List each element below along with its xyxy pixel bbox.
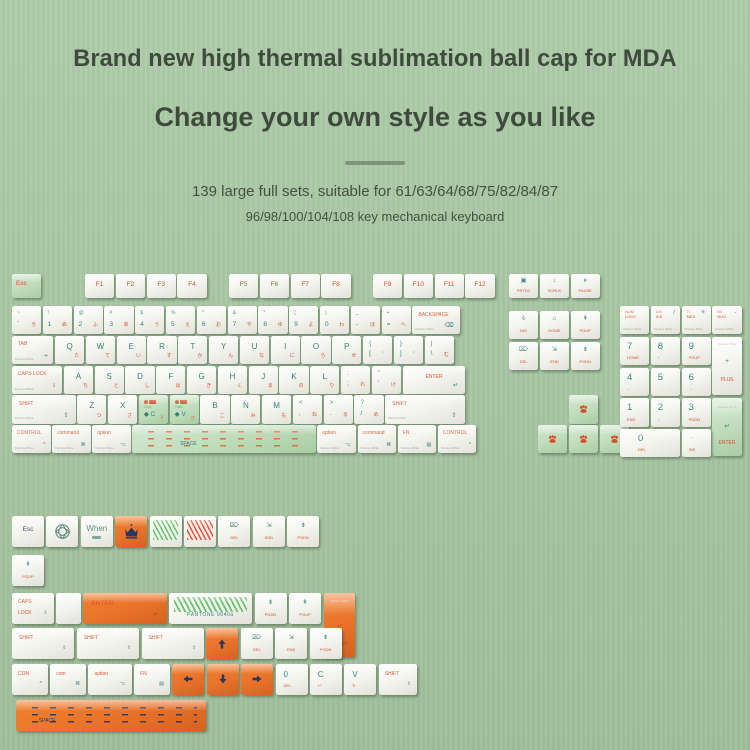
keycap-legend: E (117, 343, 146, 351)
keycap-legend: お (216, 323, 221, 328)
keycap-legend: へ (401, 323, 406, 328)
keycap[interactable]: Mも (262, 395, 291, 423)
keycap[interactable]: #3あ (104, 306, 133, 334)
keycap[interactable]: |\む (425, 336, 454, 364)
keycap-legend: ⌘ (386, 443, 391, 448)
keycap[interactable]: ENTER↵ (83, 593, 166, 624)
keycap-legend: ~ (17, 311, 20, 316)
keycap-legend: SHIFT (149, 636, 163, 641)
keycap-legend: PGDN (310, 648, 342, 652)
keycap[interactable]: Bこ (200, 395, 229, 423)
keycap-legend: & (233, 311, 236, 316)
keycap[interactable]: Hく (218, 366, 247, 394)
keycap[interactable]: Oら (301, 336, 330, 364)
keycap-legend: ゆ (278, 323, 283, 328)
keycap[interactable]: Gき (187, 366, 216, 394)
keycap[interactable]: TIMESPantone White✳ (682, 306, 711, 334)
keycap-legend: F3 (147, 282, 176, 289)
keycap[interactable]: @2ふ (74, 306, 103, 334)
keycap[interactable]: F6 (260, 274, 289, 298)
pantone-sublabel: Pantone White (15, 418, 33, 421)
keycap-legend: ⌦ (218, 523, 250, 530)
keycap-legend: も (281, 414, 286, 419)
keycap[interactable]: Fは (156, 366, 185, 394)
keycap[interactable]: com⌘ (50, 664, 86, 695)
keycap[interactable]: NUMLOCKPantone White (620, 306, 649, 334)
keycap[interactable]: ⌂HOME (540, 311, 569, 339)
keycap[interactable]: %5え (166, 306, 195, 334)
keycap[interactable]: Esc (12, 274, 41, 298)
keycap[interactable] (56, 593, 81, 624)
keycap-legend: ^ (469, 443, 471, 448)
keycap-legend: 5 (171, 322, 175, 329)
keycap-legend: た (74, 354, 79, 359)
keycap[interactable]: ▣PRTSC (509, 274, 538, 298)
keycap-legend: K (279, 373, 308, 381)
keycap-legend: あ (124, 323, 129, 328)
pantone-sublabel: Pantone White (654, 329, 672, 332)
keycap-legend: _ (356, 311, 359, 316)
keycap-legend: IDE (656, 315, 663, 319)
keycap[interactable]: SHIFT⇧ (142, 628, 204, 659)
keycap[interactable] (150, 516, 182, 547)
pantone-sublabel: Pantone White (388, 418, 406, 421)
keycap[interactable]: Nみ (231, 395, 260, 423)
keycap-legend: F2 (116, 282, 145, 289)
pantone-sublabel: Pantone White (95, 448, 113, 451)
keycap-legend: ⇞ (12, 562, 44, 569)
keycap[interactable]: F4 (177, 274, 206, 298)
keycap[interactable]: ⇟PGDN (287, 516, 319, 547)
keycap[interactable]: SHIFTPantone White⇧ (12, 395, 76, 423)
keycap[interactable]: 3PGDN (682, 398, 711, 426)
keycap-legend: 1 (627, 403, 632, 413)
keycap-legend: 7 (233, 322, 237, 329)
keycap-legend: } (400, 341, 402, 348)
keycap[interactable]: ⇟PGDN (310, 628, 342, 659)
keycap-legend: の (299, 384, 304, 389)
keycap[interactable]: }]゜ (394, 336, 423, 364)
keycap[interactable]: MINUSPantone White- (712, 306, 741, 334)
pantone-sublabel: Pantone White (712, 344, 741, 347)
keycap-legend: 2 (658, 403, 663, 413)
keycap[interactable]: Pせ (332, 336, 361, 364)
keycap-legend: PRTSC (509, 289, 538, 293)
keycap-legend: R (147, 343, 176, 351)
keycap[interactable]: 5 (651, 368, 680, 396)
keycap[interactable]: Dし (125, 366, 154, 394)
keycap[interactable]: "'け (372, 366, 401, 394)
keycap-legend: PGUP (12, 575, 44, 579)
pantone-sublabel: Pantone White (55, 448, 73, 451)
keycap[interactable]: CAPS LOCKPantone White⇩ (12, 366, 62, 394)
keycap-legend: ENTER (403, 375, 466, 380)
keycap-legend: I (271, 343, 300, 351)
keycap[interactable]: (9よ (289, 306, 318, 334)
compatibility-line-2: 96/98/100/104/108 key mechanical keyboar… (0, 200, 750, 224)
keycap-legend: HOME (627, 356, 639, 360)
keycap-legend: PANTONE 9040u (169, 613, 252, 618)
keycap[interactable]: $4う (135, 306, 164, 334)
keycap-legend: V (352, 671, 357, 679)
pantone-sublabel: Pantone White (15, 389, 33, 392)
pantone-sublabel: Pantone White (401, 448, 419, 451)
keycap[interactable] (46, 516, 78, 547)
keycap[interactable]: Paste◆ Vひ (170, 395, 199, 423)
keycap[interactable]: Sと (95, 366, 124, 394)
keycap[interactable]: &7や (228, 306, 257, 334)
keycap-legend: む (444, 353, 449, 358)
keycap-legend: ⌘ (75, 682, 80, 687)
keycap-legend: PGDN (255, 613, 287, 617)
keycap-legend: - (734, 310, 736, 317)
keycap[interactable]: PANTONE 9040u (169, 593, 252, 624)
keycap-legend: る (343, 413, 348, 418)
keycap-legend: ? (360, 400, 364, 407)
keycap-legend: LOCK (625, 315, 636, 319)
keycap-legend: ⇟ (571, 347, 600, 354)
keycap-legend: DEL (241, 648, 273, 652)
keycap[interactable]: )0わ (320, 306, 349, 334)
arrow-left-icon (172, 664, 204, 695)
keycap-legend: D (125, 373, 154, 381)
keycap-legend: 4 (627, 373, 632, 383)
keycap[interactable]: F5 (229, 274, 258, 298)
keycap[interactable]: <,ね (293, 395, 322, 423)
keycap-legend: Q (55, 343, 84, 351)
keycap[interactable]: FN▤ (134, 664, 170, 695)
paw-icon (538, 425, 567, 453)
keycap[interactable]: CAPSLOCK⇩ (12, 593, 54, 624)
keycap-legend: ぬ (62, 323, 67, 328)
keycap-legend: り (329, 384, 334, 389)
keycap-legend: め (374, 413, 379, 418)
keycap-legend: え (185, 323, 190, 328)
keycap-legend: C (318, 671, 324, 679)
keycap[interactable] (569, 395, 598, 423)
keycap-legend: DEL (284, 684, 292, 688)
keycap-legend: CON (18, 672, 29, 677)
pantone-sublabel: Pantone White (415, 329, 433, 332)
keycap[interactable] (172, 664, 204, 695)
keycap-legend: F4 (177, 282, 206, 289)
keycap[interactable]: F9 (373, 274, 402, 298)
keycap-legend: Esc (16, 281, 27, 288)
keycap-legend: に (290, 354, 295, 359)
keycap-legend: わ (339, 323, 344, 328)
keycap[interactable]: C↵ (310, 664, 342, 695)
keycap[interactable]: Rす (147, 336, 176, 364)
keycap-legend: BACKSPACE (418, 313, 448, 318)
header: Brand new high thermal sublimation ball … (0, 0, 750, 224)
keycap[interactable]: :;れ (341, 366, 370, 394)
keycap[interactable]: Pantone White+PLUS (712, 337, 741, 395)
keycap[interactable] (206, 628, 238, 659)
keycap-legend: CONTROL (17, 431, 41, 436)
keycap[interactable]: ⌦DEL (241, 628, 273, 659)
keycap-legend: SHIFT (392, 402, 406, 407)
keycap-legend: ↵ (453, 383, 458, 390)
keycap[interactable]: ^6お (197, 306, 226, 334)
keycap[interactable]: ⇞PGUP (571, 311, 600, 339)
keycap-legend: れ (360, 383, 365, 388)
keycap[interactable]: Jま (249, 366, 278, 394)
keycap-legend: ✳ (700, 310, 705, 317)
keycap-legend: W (86, 343, 115, 351)
keycap-legend: T (178, 343, 207, 351)
keycap[interactable] (241, 664, 273, 695)
keycap-legend: ◆ V (175, 412, 186, 419)
keycap[interactable]: ⇲END (253, 516, 285, 547)
keycap[interactable]: SHIFTPantone White⇧ (385, 395, 464, 423)
keycap-legend: こ (220, 414, 225, 419)
keycap-legend: ENTER (91, 601, 113, 608)
keycap[interactable]: F10 (404, 274, 433, 298)
keycap[interactable]: Uな (240, 336, 269, 364)
keycap[interactable]: When (81, 516, 113, 547)
pantone-sublabel: Pantone White (15, 448, 33, 451)
keycap[interactable]: V↻ (344, 664, 376, 695)
keycap-legend: み (250, 414, 255, 419)
keycap[interactable]: optionPantone White⌥ (92, 425, 131, 453)
keycap-legend: " (378, 371, 380, 378)
keycap-legend: ⇧ (62, 646, 66, 651)
keycap[interactable]: 4← (620, 368, 649, 396)
keycap-legend: ら (321, 354, 326, 359)
keycap-legend: ^ (39, 682, 41, 687)
keycap[interactable]: !1ぬ (43, 306, 72, 334)
keycap[interactable]: SPACE (16, 700, 206, 731)
keycap[interactable]: optionPantone White⌥ (317, 425, 356, 453)
keycap[interactable]: Pantone White↵ENTER (712, 398, 741, 456)
keycap[interactable]: BACKSPACEPantone White⌫ (412, 306, 459, 334)
keycap-legend: FN (140, 672, 147, 677)
keycap-legend: 5 (658, 373, 663, 383)
keycap[interactable]: F1 (85, 274, 114, 298)
keycap[interactable]: ⇟PGDN (571, 342, 600, 370)
arrow-right-icon (241, 664, 273, 695)
keycap[interactable]: option⌥ (88, 664, 131, 695)
keycap[interactable]: FNPantone White▤ (398, 425, 437, 453)
page-subtitle: Change your own style as you like (0, 71, 750, 131)
keycap-legend: て (105, 354, 110, 359)
keycap[interactable]: F12 (465, 274, 494, 298)
keycap-legend: X (108, 402, 137, 410)
keycap[interactable]: F11 (435, 274, 464, 298)
keycap[interactable] (115, 516, 147, 547)
keycap[interactable]: 0DEL (276, 664, 308, 695)
keycap[interactable]: CON^ (12, 664, 48, 695)
keycap[interactable]: Copy◆ Cそ (139, 395, 168, 423)
keycap[interactable]: 9PGUP (682, 337, 711, 365)
keycap[interactable]: F7 (291, 274, 320, 298)
keycap-legend: す (167, 354, 172, 359)
keycap-legend: FN (403, 431, 410, 436)
keycap[interactable]: Zつ (77, 395, 106, 423)
keycap[interactable]: CONTROLPantone White^ (12, 425, 51, 453)
keycap-legend: せ (351, 354, 356, 359)
keycap[interactable]: F3 (147, 274, 176, 298)
keycap[interactable]: SHIFT⇧ (12, 628, 74, 659)
keycap[interactable]: commandPantone White⌘ (52, 425, 91, 453)
keycap-legend: option (322, 431, 336, 436)
keycap[interactable]: +=へ (382, 306, 411, 334)
keycap-legend: com (56, 672, 65, 677)
keycap-legend: PGUP (571, 329, 600, 333)
keycap-legend: CAPS (18, 600, 32, 605)
keycap-legend: ⇥ (43, 354, 47, 359)
pantone-sublabel: Pantone White (15, 359, 33, 362)
keycap-legend: A (64, 373, 93, 381)
keycap-legend: L (310, 373, 339, 381)
keycap[interactable]: SPACE (132, 425, 315, 453)
keycap[interactable]: {[゛ (363, 336, 392, 364)
keycap[interactable]: Tか (178, 336, 207, 364)
keycap-legend: , (299, 411, 301, 418)
keycap[interactable]: ⌦DEL (509, 342, 538, 370)
keycap[interactable]: .INS (682, 429, 711, 457)
keycap-legend: ( (294, 311, 296, 316)
keycap[interactable]: DIVIDEPantone White/ (651, 306, 680, 334)
keycap[interactable]: ⇲END (275, 628, 307, 659)
keycap[interactable]: Xさ (108, 395, 137, 423)
keycap-legend: ⌦ (509, 347, 538, 354)
keycap-legend: ▤ (159, 682, 164, 687)
keycap-legend: ほ (370, 323, 375, 328)
keycap[interactable] (538, 425, 567, 453)
keycap[interactable]: ?/め (354, 395, 383, 423)
keycap-legend: PAUSE (571, 289, 600, 293)
keycap-legend: ⌂ (540, 316, 569, 323)
keycap-legend: MES (687, 315, 696, 319)
keycap[interactable]: commandPantone White⌘ (358, 425, 397, 453)
keycap[interactable]: 0DEL (620, 429, 680, 457)
keycap-legend: CONTROL (443, 431, 467, 436)
keycap[interactable]: Kの (279, 366, 308, 394)
keycap-legend: ; (347, 381, 349, 388)
keycap[interactable]: 1END (620, 398, 649, 426)
keycap[interactable]: ⇲END (540, 342, 569, 370)
keycap[interactable]: ⇞PGUP (289, 593, 321, 624)
keycap-legend: F8 (321, 282, 350, 289)
keycap-legend: ふ (93, 323, 98, 328)
keycap-legend: Z (77, 402, 106, 410)
keycap-legend: SHIFT (84, 636, 98, 641)
keycap-legend: し (145, 384, 150, 389)
keycap[interactable]: TABPantone White⇥ (12, 336, 53, 364)
keycap-legend: ^ (43, 443, 45, 448)
keycap-legend: よ (308, 323, 313, 328)
keycap[interactable]: Aち (64, 366, 93, 394)
keycap[interactable]: ⌦DEL (218, 516, 250, 547)
keycap[interactable]: SHIFT⇧ (77, 628, 139, 659)
paw-icon (569, 395, 598, 423)
keycap-legend: 3 (109, 322, 113, 329)
keycap[interactable]: *8ゆ (258, 306, 287, 334)
keycap-legend: : (347, 371, 349, 378)
keycap-legend: ⇟ (287, 523, 319, 530)
keycap-legend: END (253, 536, 285, 540)
keycap[interactable]: ⎀INS (509, 311, 538, 339)
keycap[interactable]: ⇟PGDN (255, 593, 287, 624)
keycap-legend: SPACE (39, 719, 56, 724)
keycap[interactable]: ⏸PAUSE (571, 274, 600, 298)
paste-icon (175, 400, 188, 404)
keycap-legend: M (262, 402, 291, 410)
keycap-legend: . (691, 434, 693, 441)
keycap-legend: J (249, 373, 278, 381)
keycap-legend: @ (79, 311, 84, 316)
keycap[interactable]: ENTER↵ (403, 366, 466, 394)
keycap[interactable]: F2 (116, 274, 145, 298)
keycap[interactable]: ↕SCRLK (540, 274, 569, 298)
keycap-legend: ⇩ (43, 611, 47, 616)
keycap-set-novelty: EscWhen⌦DEL⇲END⇟PGDN⇞PGUPCAPSLOCK⇩ENTER↵… (12, 516, 412, 731)
keycap-set-main: EscF1F2F3F4F5F6F7F8F9F10F11F12~`ろ!1ぬ@2ふ#… (12, 272, 742, 487)
keycap[interactable] (207, 664, 239, 695)
keycap-legend: SHIFT (19, 636, 33, 641)
keycap[interactable]: Yん (209, 336, 238, 364)
keycap[interactable]: Iに (271, 336, 300, 364)
keycap[interactable]: ~`ろ (12, 306, 41, 334)
keycap[interactable]: 7HOME (620, 337, 649, 365)
keycap-legend: ↵ (318, 684, 321, 688)
keycap-legend: CAPS LOCK (18, 372, 47, 377)
keycap-legend: ⌫ (444, 323, 453, 330)
keycap[interactable]: ⇞PGUP (12, 555, 44, 586)
keycap-legend: When (81, 525, 113, 533)
keycap-legend: ' (378, 381, 379, 388)
gem-circle-icon (46, 516, 78, 547)
keycap-legend: つ (96, 414, 101, 419)
keycap[interactable]: 2↓ (651, 398, 680, 426)
keycap-legend: = (387, 322, 391, 329)
keycap-legend: ▤ (426, 443, 431, 448)
keycap[interactable]: F8 (321, 274, 350, 298)
keycap-legend: ↵ (153, 612, 158, 619)
keycap[interactable]: _-ほ (351, 306, 380, 334)
keycap[interactable]: 6→ (682, 368, 711, 396)
keycap-legend: ! (48, 311, 49, 316)
keycap-legend: と (114, 384, 119, 389)
keycap[interactable]: Lり (310, 366, 339, 394)
keycap-legend: command (363, 431, 385, 436)
keycap-legend: F10 (404, 282, 433, 289)
keycap-legend: そ (160, 416, 164, 420)
keycap[interactable]: Wて (86, 336, 115, 364)
keycap-legend: DEL (638, 448, 646, 452)
keycap-legend: PGUP (289, 613, 321, 617)
keycap[interactable]: Eい (117, 336, 146, 364)
keycap[interactable]: CONTROLPantone White^ (438, 425, 477, 453)
keycap[interactable]: 8↑ (651, 337, 680, 365)
keycap[interactable]: Qた (55, 336, 84, 364)
keycap-legend: は (175, 384, 180, 389)
keycap[interactable]: SHIFT⇧ (379, 664, 417, 695)
keycap-legend: ⌥ (345, 443, 351, 448)
keycap[interactable] (184, 516, 216, 547)
keycap-legend: S (95, 373, 124, 381)
keycap-legend: B (200, 402, 229, 410)
keycap[interactable]: Esc (12, 516, 44, 547)
pantone-sublabel: Pantone White (324, 601, 354, 604)
keycap-legend: SCRLK (540, 289, 569, 293)
keycap-legend: INS (509, 329, 538, 333)
keycap-legend: { (369, 341, 371, 348)
keycap[interactable]: >.る (324, 395, 353, 423)
keycap[interactable] (569, 425, 598, 453)
keycap-legend: き (206, 384, 211, 389)
